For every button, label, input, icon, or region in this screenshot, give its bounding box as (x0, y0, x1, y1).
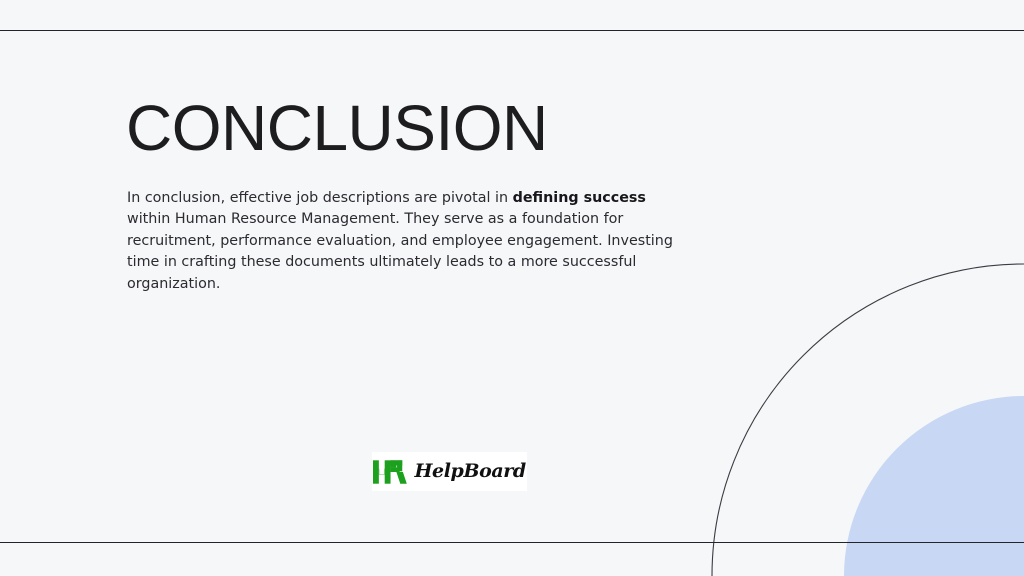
body-text-part2: within Human Resource Management. They s… (127, 211, 673, 291)
decoration-svg (694, 226, 1024, 576)
conclusion-slide: CONCLUSION In conclusion, effective job … (0, 0, 1024, 576)
quarter-circle-filled-icon (844, 396, 1024, 576)
hr-monogram-icon (373, 459, 413, 485)
body-text-emphasis: defining success (513, 190, 646, 206)
page-title: CONCLUSION (126, 96, 548, 160)
logo-wordmark: HelpBoard (415, 462, 526, 481)
logo-inner: HelpBoard (373, 459, 526, 485)
body-text-part1: In conclusion, effective job description… (127, 190, 513, 206)
helpboard-logo: HelpBoard (372, 452, 527, 491)
bottom-divider (0, 542, 1024, 543)
quarter-circle-outline-icon (712, 264, 1024, 576)
corner-decoration (694, 226, 1024, 576)
body-paragraph: In conclusion, effective job description… (127, 188, 687, 295)
top-divider (0, 30, 1024, 31)
